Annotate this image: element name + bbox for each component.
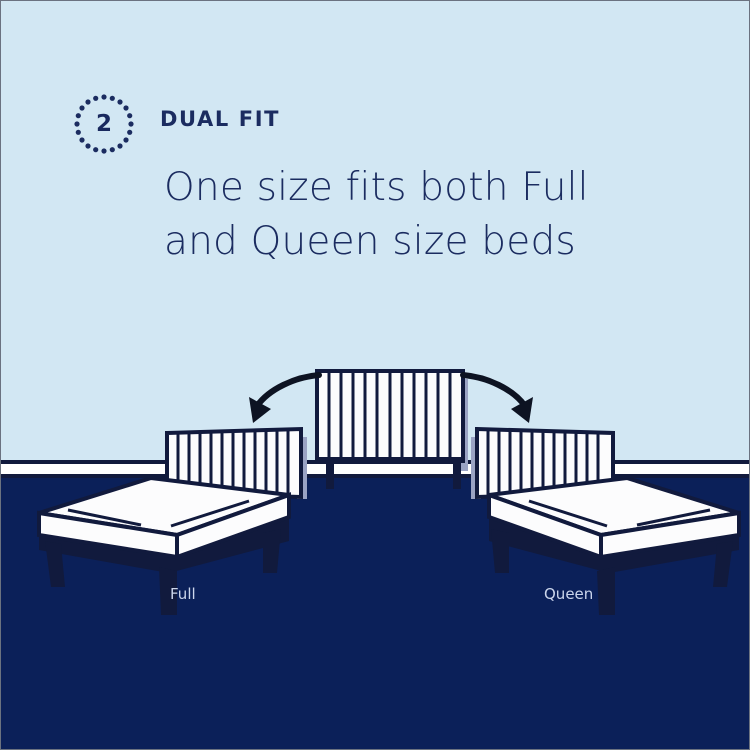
arrow-right-icon — [463, 375, 533, 423]
headline-line-1: One size fits both Full — [164, 161, 724, 215]
headline: One size fits both Full and Queen size b… — [164, 161, 724, 269]
arrow-left-icon — [249, 375, 319, 423]
header-block: 2 DUAL FIT One size fits both Full and Q… — [1, 1, 750, 301]
step-badge: 2 — [73, 93, 135, 155]
bed-label-full: Full — [170, 585, 196, 603]
step-number: 2 — [73, 93, 135, 155]
bed-queen — [471, 429, 739, 615]
bed-label-queen: Queen — [544, 585, 593, 603]
headline-line-2: and Queen size beds — [164, 215, 724, 269]
eyebrow-label: DUAL FIT — [160, 107, 280, 131]
promo-graphic: Full Queen — [0, 0, 750, 750]
center-headboard — [317, 371, 468, 489]
